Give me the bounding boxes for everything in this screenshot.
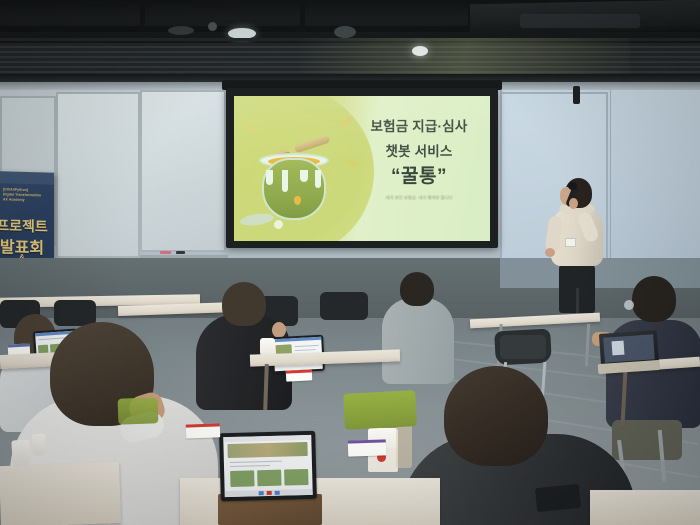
slide-title-line-2: 챗봇 서비스 <box>350 145 488 159</box>
tablet-front-toolbar-icon-3[interactable] <box>275 491 280 495</box>
chair-back-mesh <box>500 335 546 359</box>
coffee-cup-left-front <box>11 440 30 467</box>
tablet-front-toolbar-icon-1[interactable] <box>259 491 264 495</box>
ceiling-sensor <box>208 22 217 31</box>
whiteboard-center <box>140 90 226 252</box>
presenter-name-badge <box>565 238 576 247</box>
desk-front-right <box>590 490 700 525</box>
whiteboard-marker-black <box>176 251 185 254</box>
tablet-front-thumb-1 <box>230 470 254 487</box>
presentation-slide: 보험금 지급·심사 챗봇 서비스 “꿀통” 내가 보던 보험금, 내가 챙겨야 … <box>234 96 490 241</box>
jar-drip-1 <box>266 170 273 185</box>
jar-drip-3 <box>300 170 308 182</box>
name-card-front-strip <box>348 439 386 443</box>
desk-front-left <box>0 462 121 525</box>
honey-drop <box>294 196 301 205</box>
projector-screen-surface: 보험금 지급·심사 챗봇 서비스 “꿀통” 내가 보던 보험금, 내가 챙겨야 … <box>234 96 490 241</box>
whiteboard-marker-red <box>160 251 171 254</box>
slide-subtitle: 내가 보던 보험금, 내가 챙겨야 합니다 <box>350 195 488 201</box>
honey-pot-icon <box>258 144 330 220</box>
slide-service-name: “꿀통” <box>350 167 488 186</box>
ceiling-hanger-1 <box>140 0 145 30</box>
tablet-mid-browser-bar <box>273 337 321 343</box>
tablet-front-thumb-3 <box>284 469 308 486</box>
presenter-hand-holding-mic <box>569 198 578 209</box>
smartphone-front-right[interactable] <box>535 484 581 512</box>
green-chair-center <box>343 390 417 430</box>
tablet-front-tabbar <box>223 435 311 442</box>
jar-drip-4 <box>315 170 321 188</box>
name-card-front-2 <box>186 423 220 438</box>
banner-header-strip <box>0 171 54 185</box>
name-card-front <box>348 439 387 456</box>
attendee-black-tshirt-hand <box>272 322 286 338</box>
tablet-front-screen[interactable] <box>223 435 313 497</box>
attendee-dark-head <box>444 366 548 466</box>
slide-flower <box>274 220 283 229</box>
attendee-navy-glasses <box>624 300 634 310</box>
wall-bracket-right <box>573 86 580 104</box>
name-card-mid <box>286 369 313 381</box>
presenter-hand-clicker <box>545 248 555 257</box>
slide-text-block: 보험금 지급·심사 챗봇 서비스 “꿀통” 내가 보던 보험금, 내가 챙겨야 … <box>350 120 488 201</box>
attendee-black-tshirt-head <box>222 282 266 326</box>
laptop-display-right <box>603 334 655 362</box>
drink-bottle-front <box>396 424 412 468</box>
coffee-cup-left-front-2 <box>31 434 46 457</box>
banner-english-text: [DX/AI/Python] Digital Transformation AX… <box>3 187 47 204</box>
attendee-gray-shirt-head <box>400 272 434 306</box>
ceiling-vent <box>334 26 356 38</box>
slide-title-line-1: 보험금 지급·심사 <box>350 120 488 134</box>
tablet-front-hero-image <box>227 442 307 458</box>
ceiling-downlight <box>412 46 428 56</box>
presentation-room-photo: 보험금 지급·심사 챗봇 서비스 “꿀통” 내가 보던 보험금, 내가 챙겨야 … <box>0 0 700 525</box>
ceiling-light-reflection <box>300 38 630 76</box>
ceiling-hanger-2 <box>300 0 305 30</box>
ceiling-duct-secondary <box>520 14 640 28</box>
tablet-front-toolbar-icon-2[interactable] <box>267 491 272 495</box>
name-card-mid-strip <box>286 369 312 373</box>
presenter-leg-gap <box>576 288 579 313</box>
whiteboard-left <box>56 92 140 258</box>
laptop-window-right <box>612 341 625 356</box>
tablet-front-thumb-2 <box>257 470 281 487</box>
green-chair-left <box>118 397 159 424</box>
tablet-front[interactable] <box>219 431 317 501</box>
chair-center-rear-2 <box>320 292 368 320</box>
attendee-navy-head <box>632 276 676 322</box>
ceiling-light-recessed-1 <box>168 26 194 35</box>
jar-drip-2 <box>282 170 288 192</box>
jar-body <box>262 158 326 220</box>
microphone-capsule <box>568 182 577 190</box>
